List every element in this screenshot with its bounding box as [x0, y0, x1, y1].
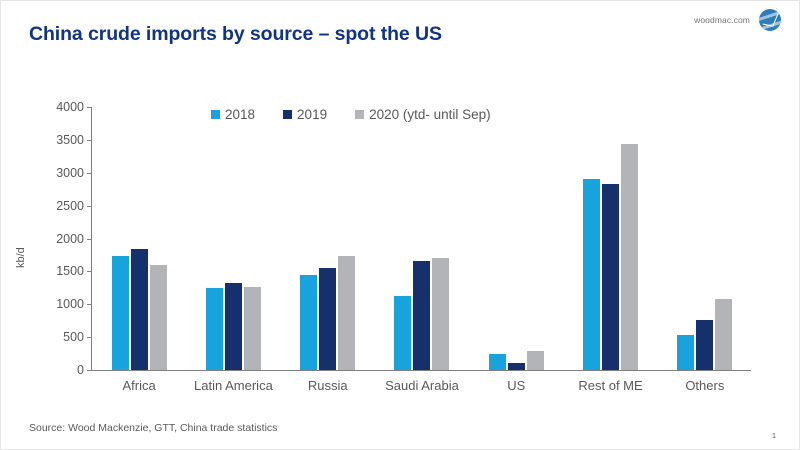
x-category-label: Latin America	[186, 372, 280, 393]
brand-url-label: woodmac.com	[694, 15, 750, 25]
bar-rest-of-me-2018[interactable]	[583, 179, 600, 370]
bar-group	[375, 107, 469, 370]
bar-rest-of-me-2020[interactable]	[621, 144, 638, 371]
y-tick-label: 500	[8, 330, 84, 344]
page-title: China crude imports by source – spot the…	[29, 23, 442, 46]
bar-saudi-arabia-2020[interactable]	[432, 258, 449, 370]
bar-others-2019[interactable]	[696, 320, 713, 370]
bar-russia-2020[interactable]	[338, 256, 355, 370]
bar-saudi-arabia-2019[interactable]	[413, 261, 430, 370]
bar-russia-2019[interactable]	[319, 268, 336, 370]
y-tick-label: 1500	[8, 264, 84, 278]
bar-africa-2020[interactable]	[150, 265, 167, 370]
bar-group	[92, 107, 186, 370]
bar-russia-2018[interactable]	[300, 275, 317, 370]
y-tick-mark	[87, 370, 92, 371]
plot-area: 05001000150020002500300035004000 AfricaL…	[92, 107, 782, 370]
bar-latin-america-2019[interactable]	[225, 283, 242, 370]
bar-latin-america-2020[interactable]	[244, 287, 261, 370]
x-category-label: Africa	[92, 372, 186, 393]
y-tick-label: 2500	[8, 199, 84, 213]
bar-group	[563, 107, 657, 370]
page-number: 1	[772, 431, 776, 440]
bar-groups	[92, 107, 752, 370]
woodmac-circle-logo-icon	[759, 9, 781, 31]
y-tick-label: 2000	[8, 232, 84, 246]
bar-africa-2019[interactable]	[131, 249, 148, 370]
y-tick-label: 3000	[8, 166, 84, 180]
x-category-label: Saudi Arabia	[375, 372, 469, 393]
bar-others-2018[interactable]	[677, 335, 694, 370]
y-tick-label: 0	[8, 363, 84, 377]
bar-us-2019[interactable]	[508, 363, 525, 370]
source-note: Source: Wood Mackenzie, GTT, China trade…	[29, 422, 277, 434]
bar-saudi-arabia-2018[interactable]	[394, 296, 411, 370]
bar-us-2018[interactable]	[489, 354, 506, 370]
bar-us-2020[interactable]	[527, 351, 544, 370]
bar-latin-america-2018[interactable]	[206, 288, 223, 370]
brand-lockup: woodmac.com	[694, 9, 781, 31]
bar-group	[186, 107, 280, 370]
bar-others-2020[interactable]	[715, 299, 732, 370]
y-tick-label: 4000	[8, 100, 84, 114]
bar-group	[281, 107, 375, 370]
bar-group	[469, 107, 563, 370]
x-category-label: Rest of ME	[563, 372, 657, 393]
bar-rest-of-me-2019[interactable]	[602, 184, 619, 370]
x-axis-category-labels: AfricaLatin AmericaRussiaSaudi ArabiaUSR…	[92, 372, 752, 393]
y-tick-label: 1000	[8, 297, 84, 311]
bar-group	[658, 107, 752, 370]
y-tick-label: 3500	[8, 133, 84, 147]
bar-chart: 201820192020 (ytd- until Sep) kb/d 05001…	[1, 63, 800, 408]
x-axis-line	[91, 370, 751, 371]
bar-africa-2018[interactable]	[112, 256, 129, 370]
slide-canvas: woodmac.com China crude imports by sourc…	[0, 0, 800, 450]
x-category-label: US	[469, 372, 563, 393]
x-category-label: Others	[658, 372, 752, 393]
slide-header: woodmac.com China crude imports by sourc…	[1, 1, 799, 63]
x-category-label: Russia	[281, 372, 375, 393]
logo-check-glyph	[762, 11, 778, 26]
